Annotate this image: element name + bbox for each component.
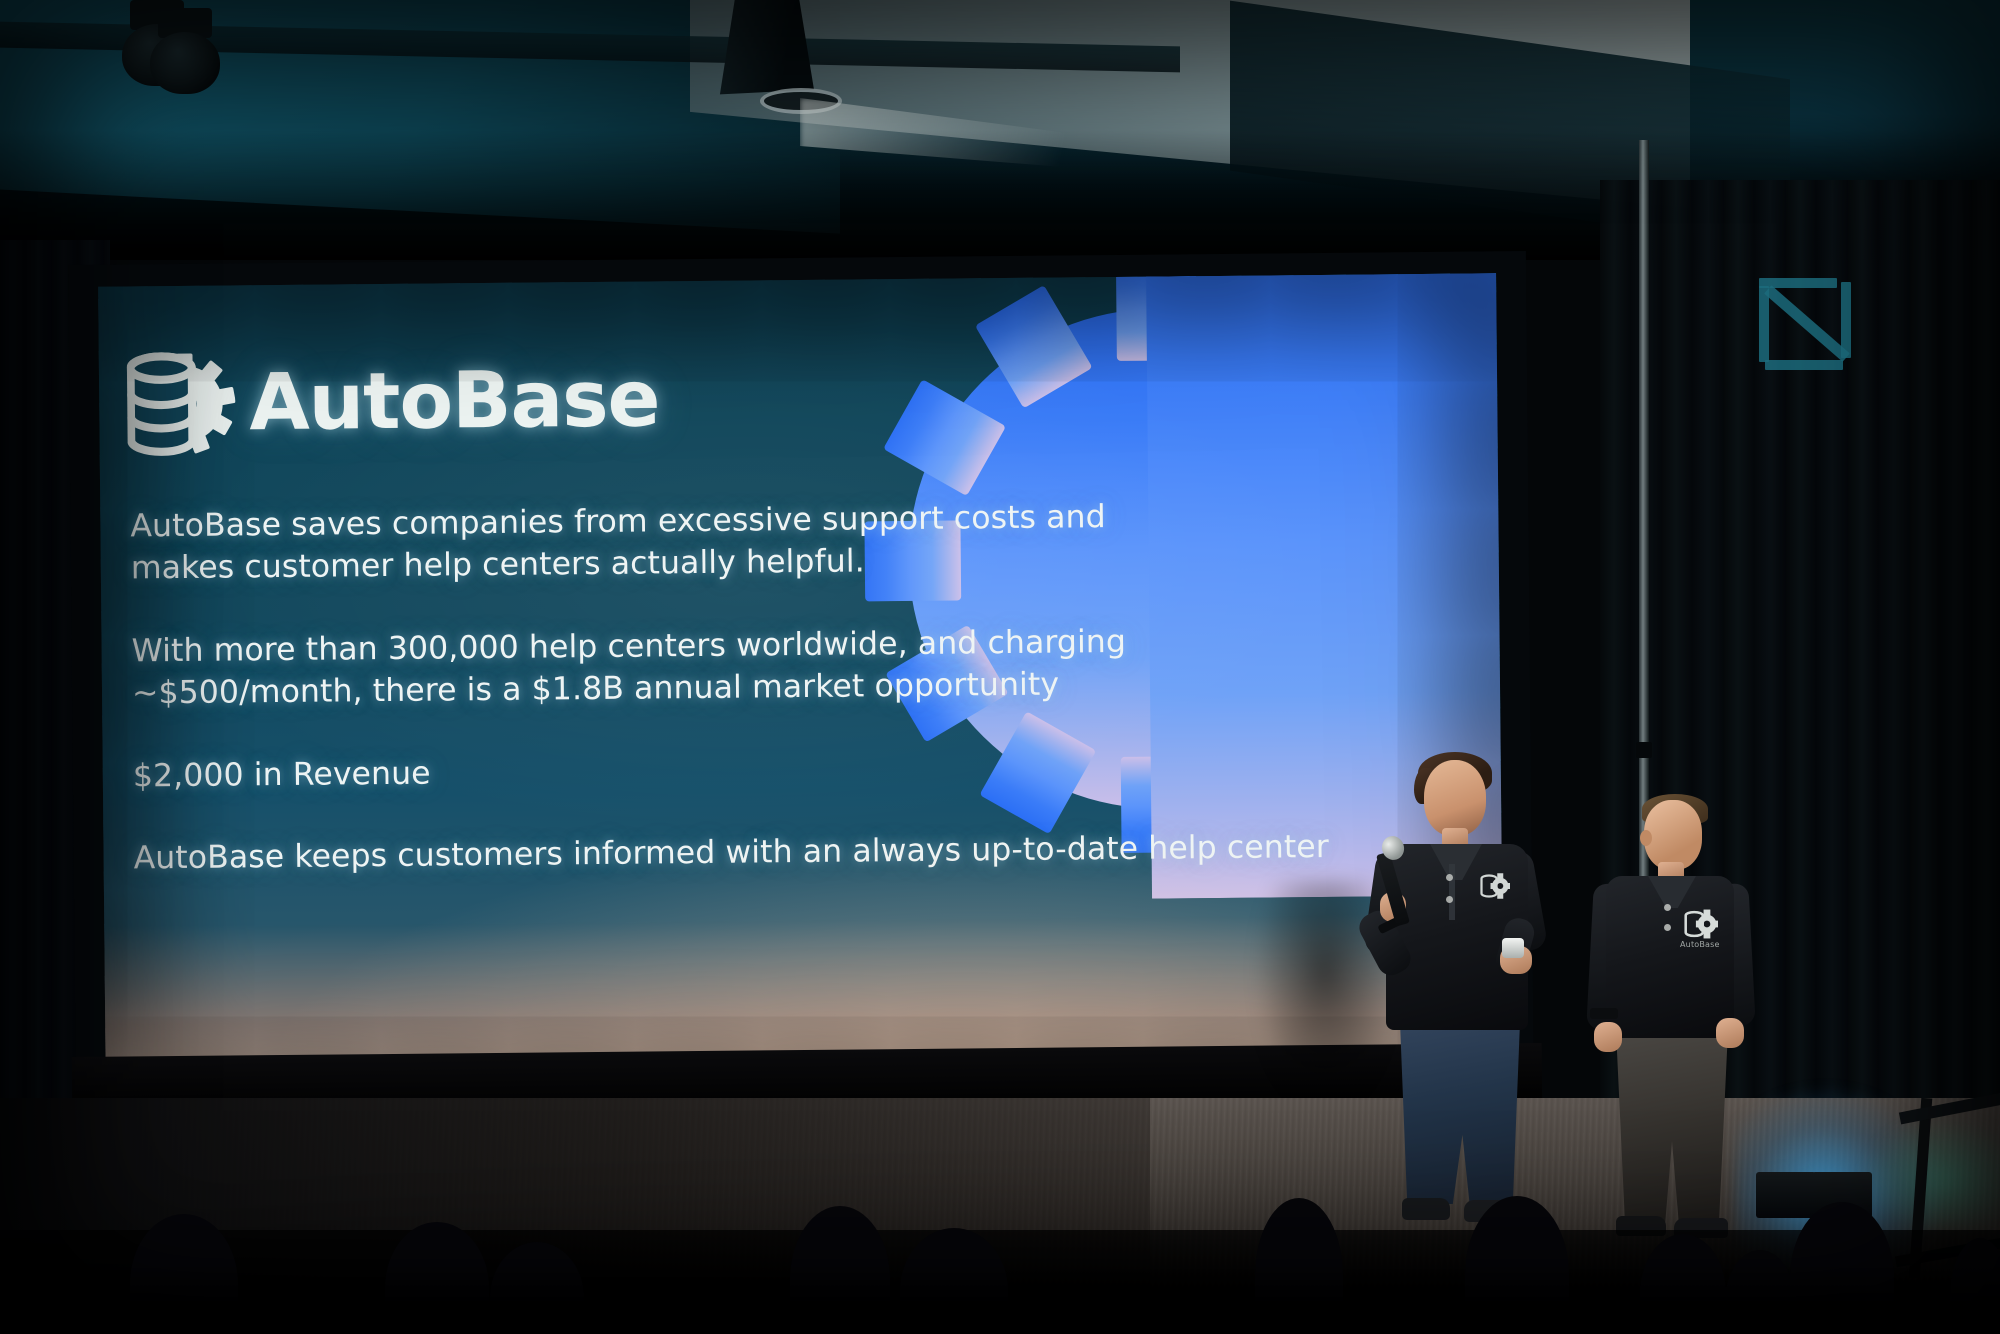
slide-paragraph-1: AutoBase saves companies from excessive … [130,497,1141,590]
copresenter-shirt-button [1664,924,1671,931]
audience-silhouettes [0,1184,2000,1334]
mic-stand-clamp [1636,742,1652,758]
slide-copy: AutoBase saves companies from excessive … [126,493,1502,880]
copresenter-head [1644,800,1702,870]
slide-paragraph-4: AutoBase keeps customers informed with a… [133,826,1363,879]
speaker-shirt-button [1446,896,1453,903]
polo-autobase-logo-icon [1480,872,1510,900]
slide-logo: AutoBase [127,335,1498,460]
wall-sign-edge-bottom [1765,360,1843,370]
fixture-lens [150,32,220,94]
speaker-jeans [1400,1022,1520,1204]
polo-brand-text: AutoBase [1680,940,1720,949]
slide-paragraph-2: With more than 300,000 help centers worl… [131,622,1142,715]
slide-paragraph-3: $2,000 in Revenue [133,747,1143,798]
wall-sign-square-diagonal-icon [1759,278,1851,370]
stage-photo: AutoBase AutoBase saves companies from e… [0,0,2000,1334]
speaker-placket [1449,864,1455,920]
speaker-head [1424,760,1486,836]
presentation-clicker-icon [1502,938,1524,958]
wall-sign-edge-left [1759,286,1769,362]
copresenter-hand-right [1716,1018,1744,1048]
database-gear-icon [127,347,236,460]
copresenter-hand-left [1594,1022,1622,1052]
bottom-shadow-gradient [0,1264,2000,1334]
speaker-shirt-button [1446,874,1453,881]
copresenter-shirt-button [1664,904,1671,911]
wall-sign-diagonal [1764,285,1850,362]
brand-name: AutoBase [249,360,660,442]
wrist-watch-icon [1590,1008,1618,1019]
copresenter-ear [1640,830,1652,846]
polo-autobase-logo-icon [1684,908,1718,940]
